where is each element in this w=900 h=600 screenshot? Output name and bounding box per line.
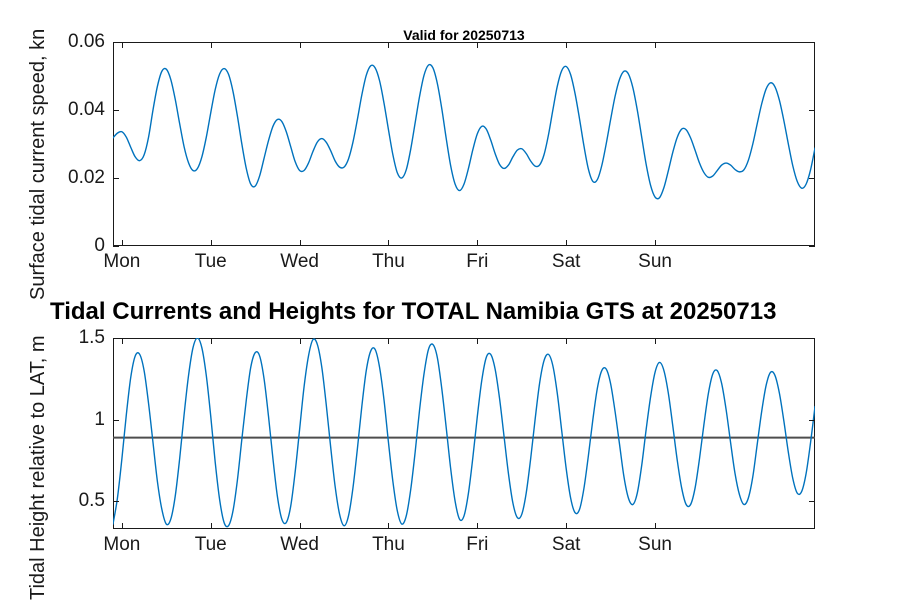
top-x-tick-5 [566,240,567,246]
top-x-tick-2 [300,240,301,246]
bottom-chart-y-axis-label: Tidal Height relative to LAT, m [27,335,50,600]
top-x-tick-0 [122,42,123,48]
top-y-tick-1 [113,178,119,179]
top-y-tick-3 [113,42,119,43]
bottom-y-tick-label-2: 1.5 [0,327,105,349]
bottom-y-tick-2 [113,338,119,339]
bottom-x-tick-label-fri: Fri [466,534,488,556]
bottom-y-tick-0 [809,501,815,502]
bottom-x-tick-2 [300,338,301,344]
top-y-tick-0 [113,246,119,247]
bottom-x-tick-label-wed: Wed [280,534,319,556]
bottom-y-tick-label-0: 0.5 [0,490,105,512]
bottom-x-tick-0 [122,338,123,344]
bottom-x-tick-label-tue: Tue [195,534,227,556]
top-x-tick-3 [388,240,389,246]
top-y-tick-2 [113,110,119,111]
top-y-tick-label-3: 0.06 [0,31,105,53]
top-y-tick-label-1: 0.02 [0,167,105,189]
bottom-x-tick-3 [388,523,389,529]
top-y-tick-3 [809,42,815,43]
bottom-y-tick-1 [113,420,119,421]
top-x-tick-1 [211,240,212,246]
bottom-y-tick-1 [809,420,815,421]
bottom-x-tick-5 [566,338,567,344]
top-y-tick-1 [809,178,815,179]
bottom-x-tick-0 [122,523,123,529]
top-chart-subtitle: Valid for 20250713 [113,27,815,43]
bottom-x-tick-4 [477,338,478,344]
bottom-x-tick-label-mon: Mon [103,534,140,556]
top-x-tick-label-sat: Sat [552,251,581,273]
bottom-x-tick-label-thu: Thu [372,534,405,556]
top-x-tick-6 [655,240,656,246]
bottom-y-tick-0 [113,501,119,502]
bottom-x-tick-6 [655,338,656,344]
top-chart-plot-area [113,42,815,246]
top-x-tick-6 [655,42,656,48]
bottom-x-tick-2 [300,523,301,529]
top-x-tick-0 [122,240,123,246]
top-y-tick-label-2: 0.04 [0,99,105,121]
top-x-tick-label-thu: Thu [372,251,405,273]
top-chart-panel [113,42,815,246]
top-x-tick-4 [477,42,478,48]
bottom-chart-panel [113,338,815,529]
top-x-tick-1 [211,42,212,48]
top-x-tick-label-mon: Mon [103,251,140,273]
top-y-tick-label-0: 0 [0,235,105,257]
bottom-x-tick-3 [388,338,389,344]
bottom-x-tick-1 [211,338,212,344]
bottom-x-tick-6 [655,523,656,529]
bottom-x-tick-4 [477,523,478,529]
top-chart-y-axis-label: Surface tidal current speed, kn [27,29,50,300]
bottom-x-tick-label-sat: Sat [552,534,581,556]
top-x-tick-label-wed: Wed [280,251,319,273]
bottom-y-tick-label-1: 1 [0,409,105,431]
top-x-tick-4 [477,240,478,246]
bottom-y-tick-2 [809,338,815,339]
top-y-tick-0 [809,246,815,247]
top-y-tick-2 [809,110,815,111]
top-x-tick-2 [300,42,301,48]
bottom-x-tick-label-sun: Sun [638,534,672,556]
top-chart-series-0 [113,65,815,199]
bottom-x-tick-1 [211,523,212,529]
bottom-chart-plot-area [113,338,815,529]
bottom-x-tick-5 [566,523,567,529]
top-x-tick-label-sun: Sun [638,251,672,273]
top-x-tick-label-fri: Fri [466,251,488,273]
bottom-chart-series-0 [113,338,815,527]
top-x-tick-3 [388,42,389,48]
top-x-tick-5 [566,42,567,48]
figure-root: Surface tidal current speed, kn Tidal He… [0,0,900,600]
top-x-tick-label-tue: Tue [195,251,227,273]
page-title: Tidal Currents and Heights for TOTAL Nam… [50,298,900,326]
